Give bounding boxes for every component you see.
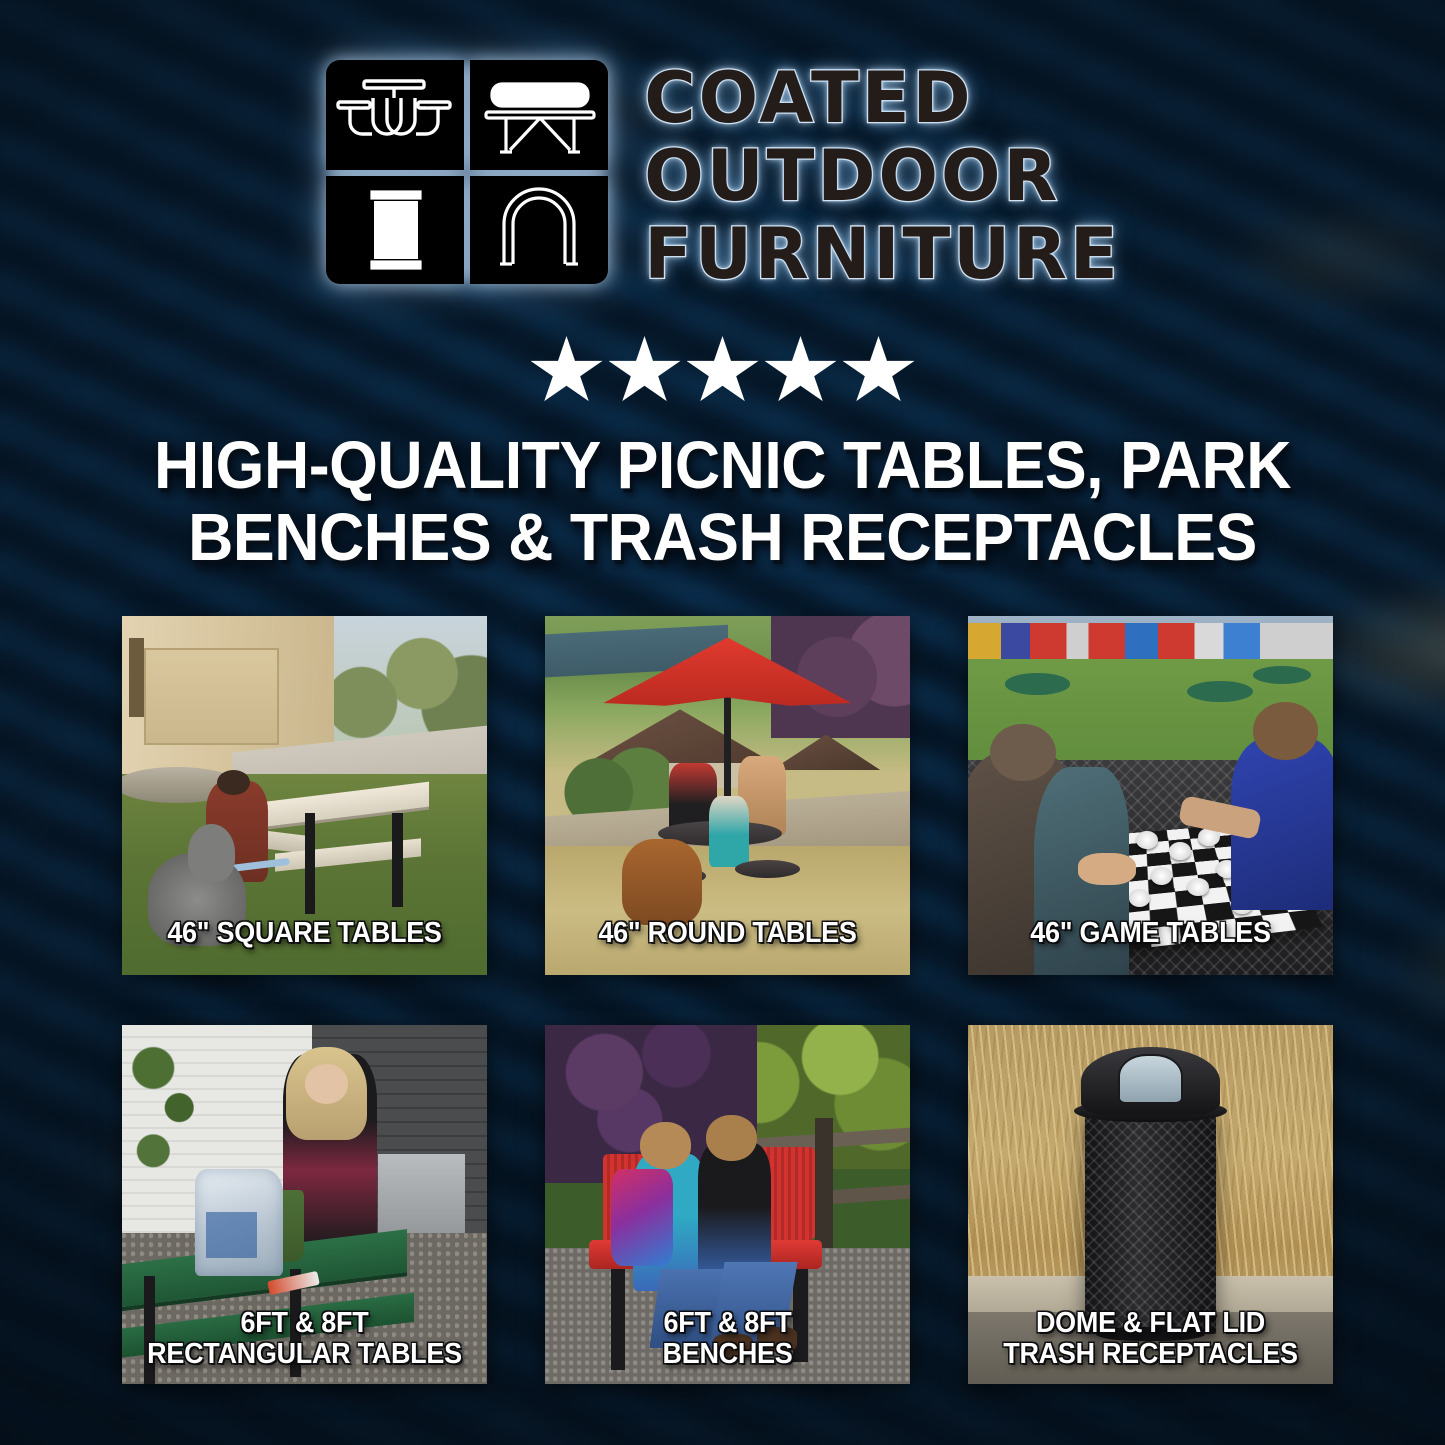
product-caption: 46" ROUND TABLES: [561, 918, 893, 949]
brand-name: COATED OUTDOOR FURNITURE: [644, 58, 1121, 292]
product-caption: 46" SQUARE TABLES: [138, 918, 470, 949]
product-tile-game-tables[interactable]: 46" GAME TABLES: [968, 616, 1333, 975]
product-tile-benches[interactable]: 6FT & 8FT BENCHES: [545, 1025, 910, 1384]
trash-receptacle-icon: [372, 192, 420, 268]
product-tile-square-tables[interactable]: 46" SQUARE TABLES: [122, 616, 487, 975]
poster-content: COATED OUTDOOR FURNITURE HIGH-QUALITY PI…: [0, 0, 1445, 1445]
star-icon: [609, 336, 681, 406]
star-icon: [765, 336, 837, 406]
brand-header: COATED OUTDOOR FURNITURE: [0, 58, 1445, 292]
star-icon: [687, 336, 759, 406]
star-rating: [0, 336, 1445, 406]
product-caption: 6FT & 8FT BENCHES: [561, 1308, 893, 1370]
product-grid: 46" SQUARE TABLES 46" ROUND TABLES: [122, 616, 1323, 1384]
coated-outdoor-furniture-logo-icon: [324, 58, 610, 286]
headline-line-1: HIGH-QUALITY PICNIC TABLES, PARK: [103, 430, 1342, 502]
headline-line-2: BENCHES & TRASH RECEPTACLES: [103, 502, 1342, 574]
brand-name-line-1: COATED: [644, 60, 1121, 136]
brand-name-line-3: FURNITURE: [644, 216, 1121, 292]
product-tile-round-tables[interactable]: 46" ROUND TABLES: [545, 616, 910, 975]
page-title: HIGH-QUALITY PICNIC TABLES, PARK BENCHES…: [103, 430, 1342, 574]
product-tile-rectangular-tables[interactable]: 6FT & 8FT RECTANGULAR TABLES: [122, 1025, 487, 1384]
product-caption: 6FT & 8FT RECTANGULAR TABLES: [138, 1308, 470, 1370]
product-caption: 46" GAME TABLES: [984, 918, 1316, 949]
brand-name-line-2: OUTDOOR: [644, 138, 1121, 214]
product-tile-trash-receptacles[interactable]: DOME & FLAT LID TRASH RECEPTACLES: [968, 1025, 1333, 1384]
star-icon: [531, 336, 603, 406]
star-icon: [843, 336, 915, 406]
product-caption: DOME & FLAT LID TRASH RECEPTACLES: [984, 1308, 1316, 1370]
